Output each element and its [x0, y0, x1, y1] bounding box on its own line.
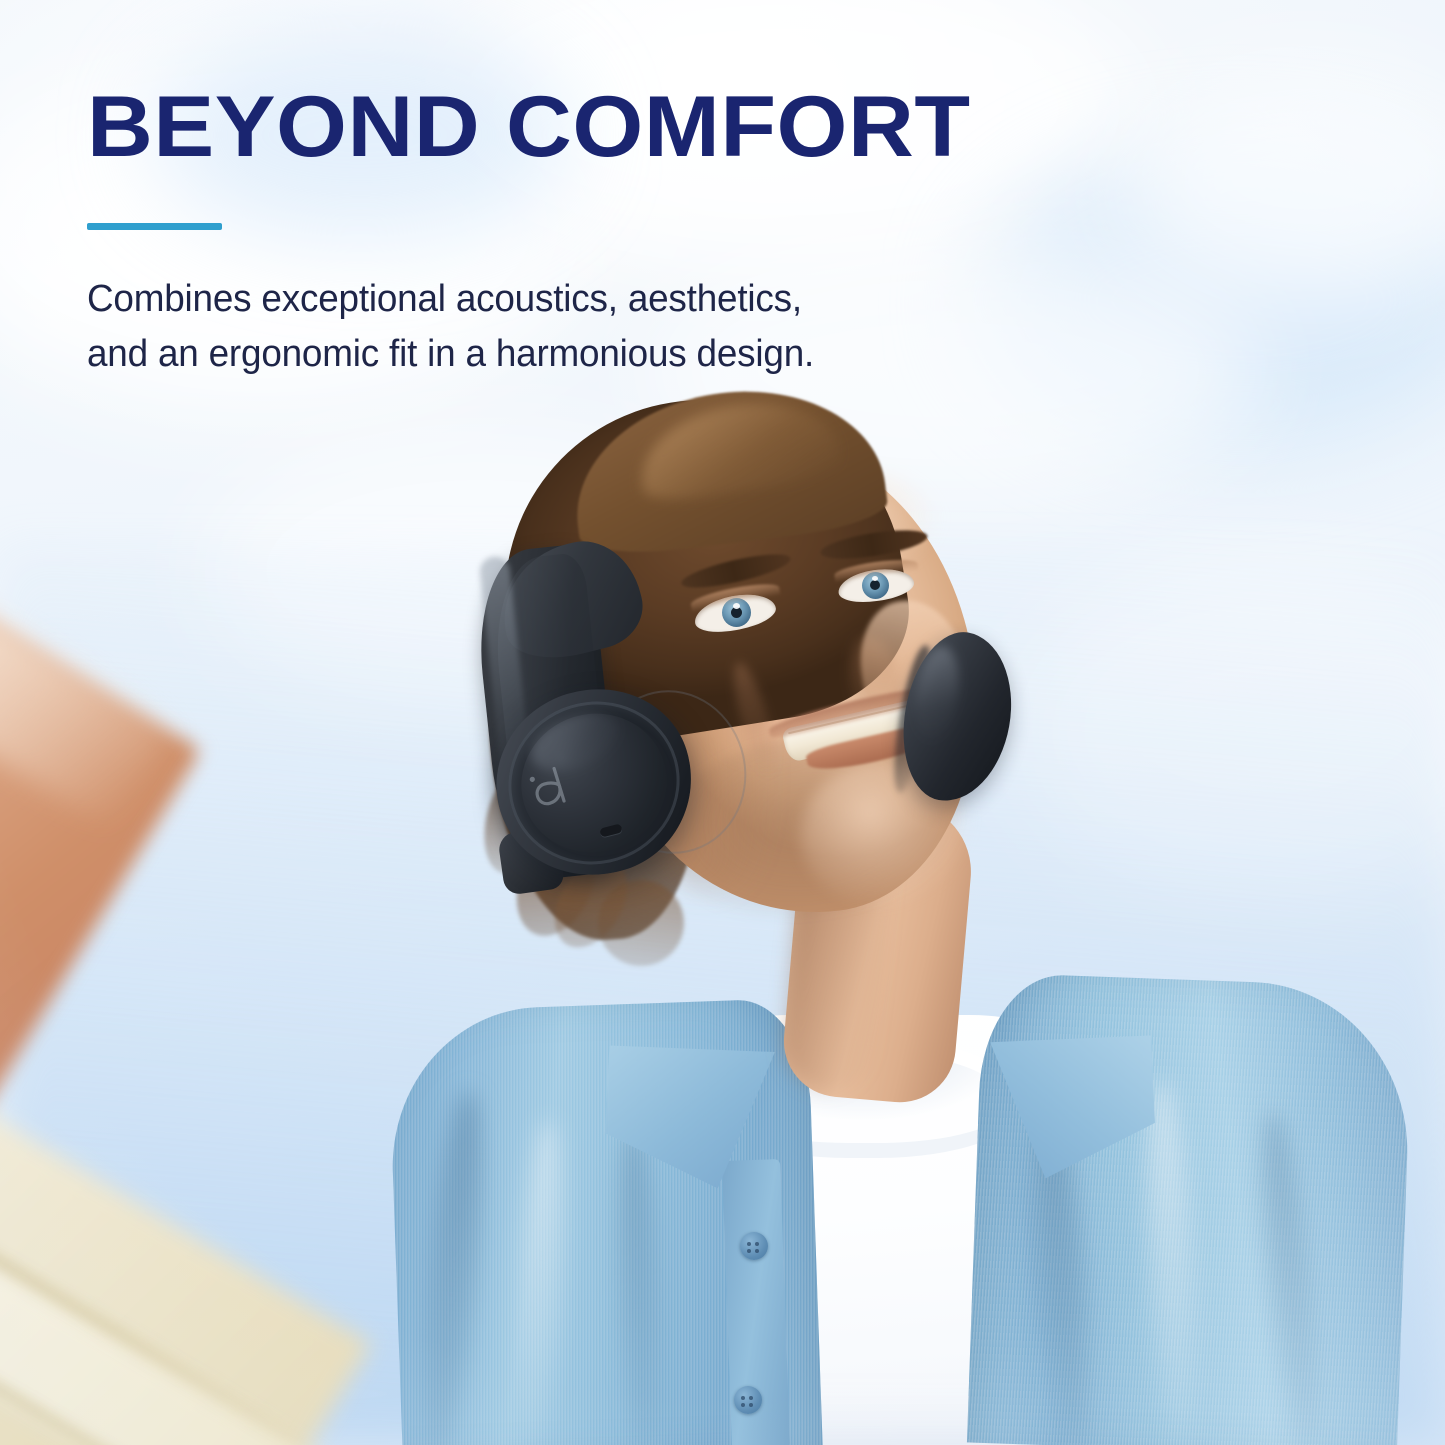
shirt-button [740, 1232, 768, 1260]
copy-block: BEYOND COMFORT Combines exceptional acou… [87, 84, 1187, 381]
shirt-button [734, 1386, 762, 1414]
product-hero-banner: BEYOND COMFORT Combines exceptional acou… [0, 0, 1445, 1445]
accent-divider [87, 223, 222, 230]
page-title: BEYOND COMFORT [87, 84, 1253, 170]
pupil [870, 580, 880, 590]
subtitle-line-2: and an ergonomic fit in a harmonious des… [87, 327, 1154, 382]
subtitle: Combines exceptional acoustics, aestheti… [87, 272, 1154, 381]
subtitle-line-1: Combines exceptional acoustics, aestheti… [87, 272, 1154, 327]
